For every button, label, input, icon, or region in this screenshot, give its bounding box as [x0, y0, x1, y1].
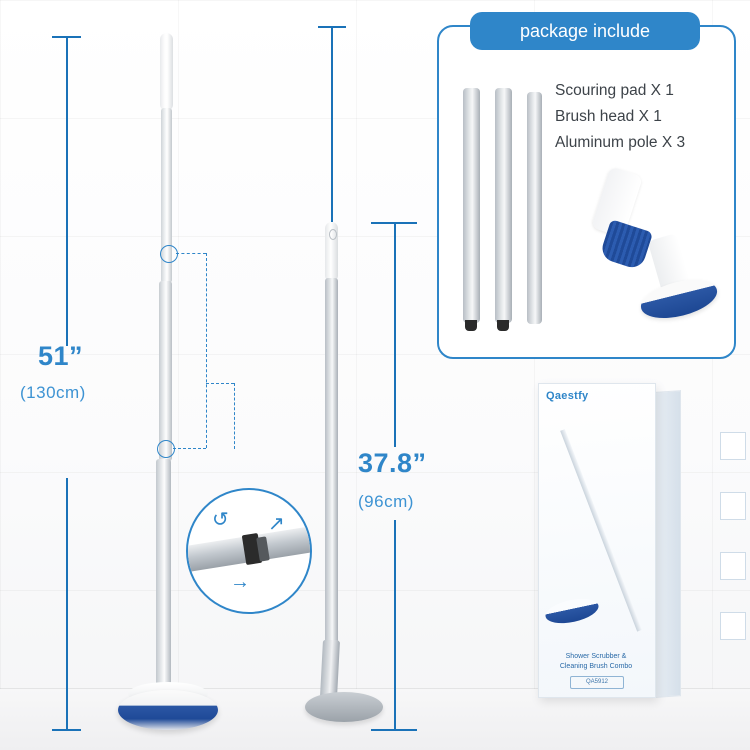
dimension-short-cm: (96cm)	[358, 492, 414, 512]
measure-line-short-pole	[394, 222, 396, 447]
measure-cap-short-top	[371, 222, 417, 224]
product-infographic: 51” (130cm) 37.8” (96cm) ↺ ↗ → package i…	[0, 0, 750, 750]
joint-leader-upper	[176, 253, 206, 254]
package-pole-2	[495, 88, 512, 323]
box-thumbnail-1	[720, 432, 746, 460]
joint-marker-upper	[160, 245, 178, 263]
long-pole-shaft-bottom	[156, 459, 171, 694]
short-pole-head	[305, 692, 383, 722]
measure-line-left-lower	[66, 478, 68, 730]
package-include-title: package include	[470, 12, 700, 50]
short-pole-hang-hole	[329, 229, 337, 240]
package-pole-2-tip	[497, 320, 509, 331]
package-item-0: Scouring pad X 1	[555, 78, 685, 104]
package-item-2: Aluminum pole X 3	[555, 130, 685, 156]
measure-cap-left-top	[52, 36, 81, 38]
dimension-short-inches: 37.8”	[358, 448, 427, 479]
long-pole-handle	[160, 33, 173, 111]
rotate-arrow-left-icon: ↺	[212, 510, 229, 530]
rotate-arrow-right-icon: →	[230, 572, 250, 592]
twist-arrow-icon: ↗	[268, 514, 285, 534]
joint-leader-mid	[206, 383, 234, 384]
long-pole-shaft-middle	[159, 281, 172, 461]
joint-zoom-bubble: ↺ ↗ →	[186, 488, 312, 614]
package-pole-3	[527, 92, 542, 324]
long-pole-scouring-pad	[118, 690, 218, 730]
brand-logo: Qaestfy	[546, 390, 588, 402]
box-thumbnail-2	[720, 492, 746, 520]
package-items-list: Scouring pad X 1 Brush head X 1 Aluminum…	[555, 78, 685, 156]
retail-box-side	[654, 390, 681, 698]
package-item-1: Brush head X 1	[555, 104, 685, 130]
measure-line-short-pole-lower	[394, 520, 396, 730]
package-pole-1-tip	[465, 320, 477, 331]
retail-box-front	[538, 383, 656, 698]
measure-line-left	[66, 36, 68, 346]
box-title-line2: Cleaning Brush Combo	[538, 662, 654, 672]
joint-marker-lower	[157, 440, 175, 458]
short-pole-shaft	[325, 278, 338, 668]
joint-leader-vertical	[206, 253, 207, 448]
box-thumbnail-4	[720, 612, 746, 640]
box-title-line1: Shower Scrubber &	[538, 652, 654, 662]
dimension-long-inches: 51”	[38, 341, 83, 372]
measure-cap-left-bottom	[52, 729, 81, 731]
measure-cap-middle-top	[318, 26, 346, 28]
package-pole-1	[463, 88, 480, 323]
measure-line-middle-top	[331, 26, 333, 222]
joint-leader-lower	[173, 448, 206, 449]
joint-leader-mid-vertical	[234, 383, 235, 449]
box-thumbnail-3	[720, 552, 746, 580]
measure-cap-short-bottom	[371, 729, 417, 731]
dimension-long-cm: (130cm)	[20, 383, 86, 403]
box-sku-label: QA5912	[570, 676, 624, 689]
